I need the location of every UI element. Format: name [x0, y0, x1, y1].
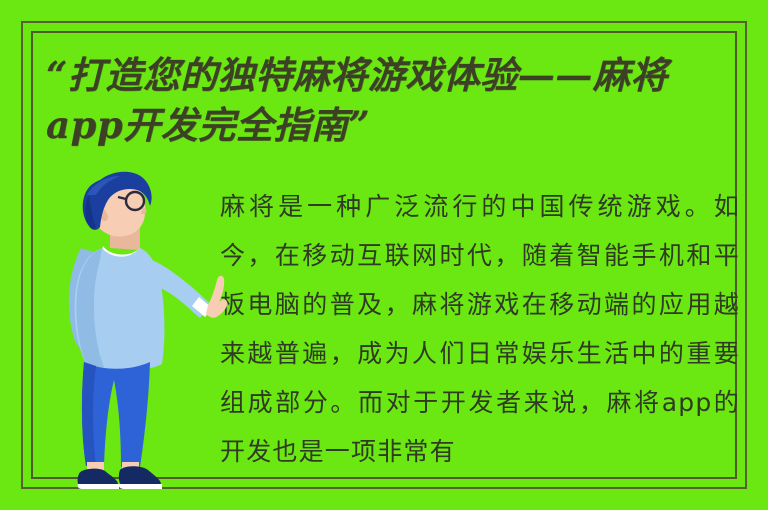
poster-canvas: “打造您的独特麻将游戏体验——麻将app开发完全指南” 麻将是一种广泛流行的中国… — [0, 0, 768, 510]
poster-body-text: 麻将是一种广泛流行的中国传统游戏。如今，在移动互联网时代，随着智能手机和平板电脑… — [220, 182, 740, 482]
left-shoe-sole-shape — [78, 484, 119, 489]
poster-heading: “打造您的独特麻将游戏体验——麻将app开发完全指南” — [46, 50, 736, 150]
pointing-person-illustration — [48, 168, 228, 490]
pointing-hand-shape — [206, 276, 227, 318]
right-shoe-sole-shape — [119, 484, 162, 489]
